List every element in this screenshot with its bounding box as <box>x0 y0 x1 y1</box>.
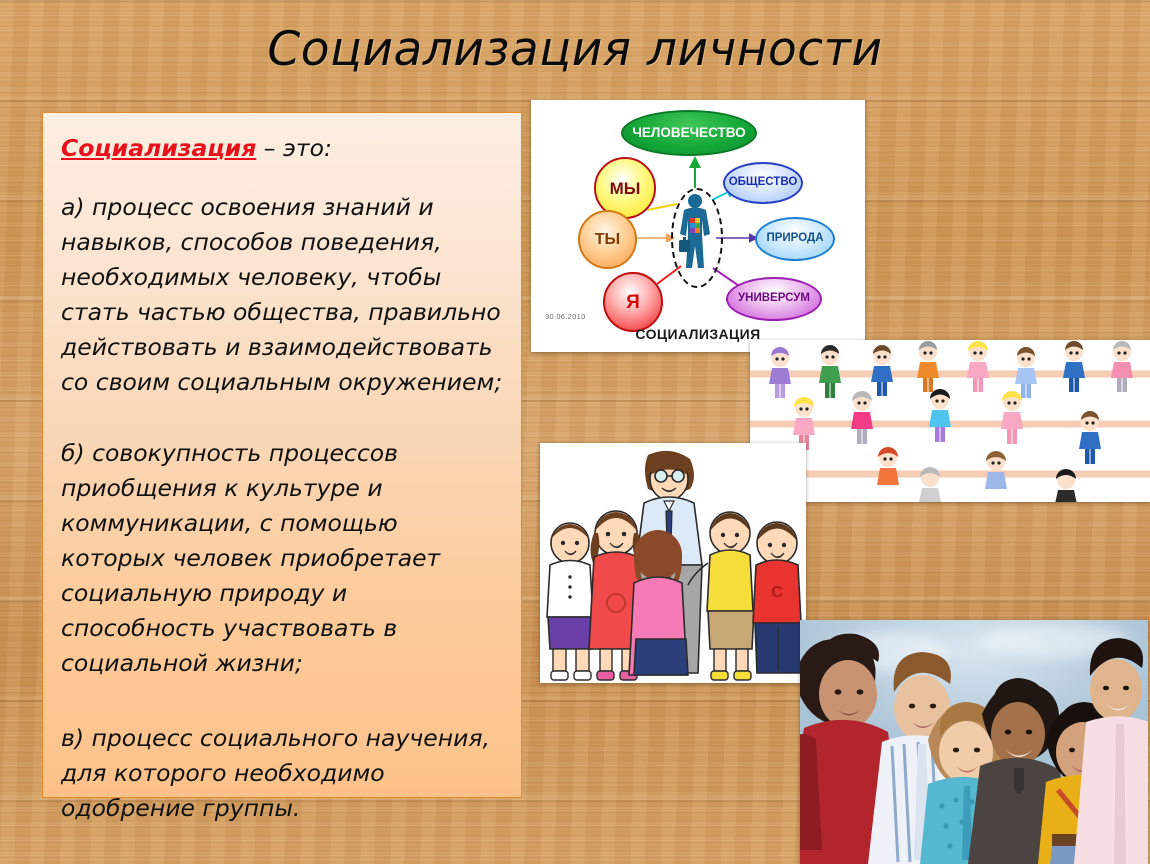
teens-photo-card <box>800 620 1148 864</box>
definition-paragraph-b: б) совокупность процессов приобщения к к… <box>61 436 505 681</box>
diagram-node-society[interactable]: ОБЩЕСТВО <box>723 162 803 204</box>
diagram-node-i[interactable]: Я <box>603 272 663 332</box>
diagram-node-nature[interactable]: ПРИРОДА <box>755 217 835 261</box>
definition-paragraph-c: в) процесс социального научения, для кот… <box>61 721 505 826</box>
svg-text:C: C <box>771 584 783 601</box>
diagram-node-you[interactable]: ТЫ <box>578 210 637 269</box>
definition-lead: Социализация – это: <box>61 131 505 166</box>
teens-figures <box>800 620 1148 864</box>
teacher-children-image-card: C <box>540 443 806 683</box>
group-of-teenagers-photo <box>800 620 1148 864</box>
cartoon-people-holding-hands-image <box>750 340 1150 502</box>
people-chain-image-card <box>750 340 1150 502</box>
definition-paragraph-a: а) процесс освоения знаний и навыков, сп… <box>61 190 505 400</box>
socialization-diagram-card: ЧЕЛОВЕЧЕСТВО МЫ ТЫ Я ОБЩЕСТВО ПРИРОДА УН… <box>531 100 865 352</box>
businessman-silhouette-icon <box>671 188 719 284</box>
slide: Социализация личности Социализация – это… <box>0 0 1150 864</box>
lead-suffix: – это: <box>256 134 332 162</box>
diagram-node-humanity[interactable]: ЧЕЛОВЕЧЕСТВО <box>621 110 757 156</box>
definition-textbox: Социализация – это: а) процесс освоения … <box>42 112 522 798</box>
diagram-date-stamp: 30.06.2010 <box>545 312 586 321</box>
person-figure <box>1074 638 1148 864</box>
teacher-with-children-image: C <box>540 443 806 683</box>
keyword-socialization: Социализация <box>61 134 256 162</box>
diagram-node-universum[interactable]: УНИВЕРСУМ <box>726 277 822 321</box>
socialization-diagram: ЧЕЛОВЕЧЕСТВО МЫ ТЫ Я ОБЩЕСТВО ПРИРОДА УН… <box>531 100 865 352</box>
page-title: Социализация личности <box>0 22 1150 77</box>
child-figure: C <box>753 522 803 673</box>
child-figure <box>629 530 688 675</box>
